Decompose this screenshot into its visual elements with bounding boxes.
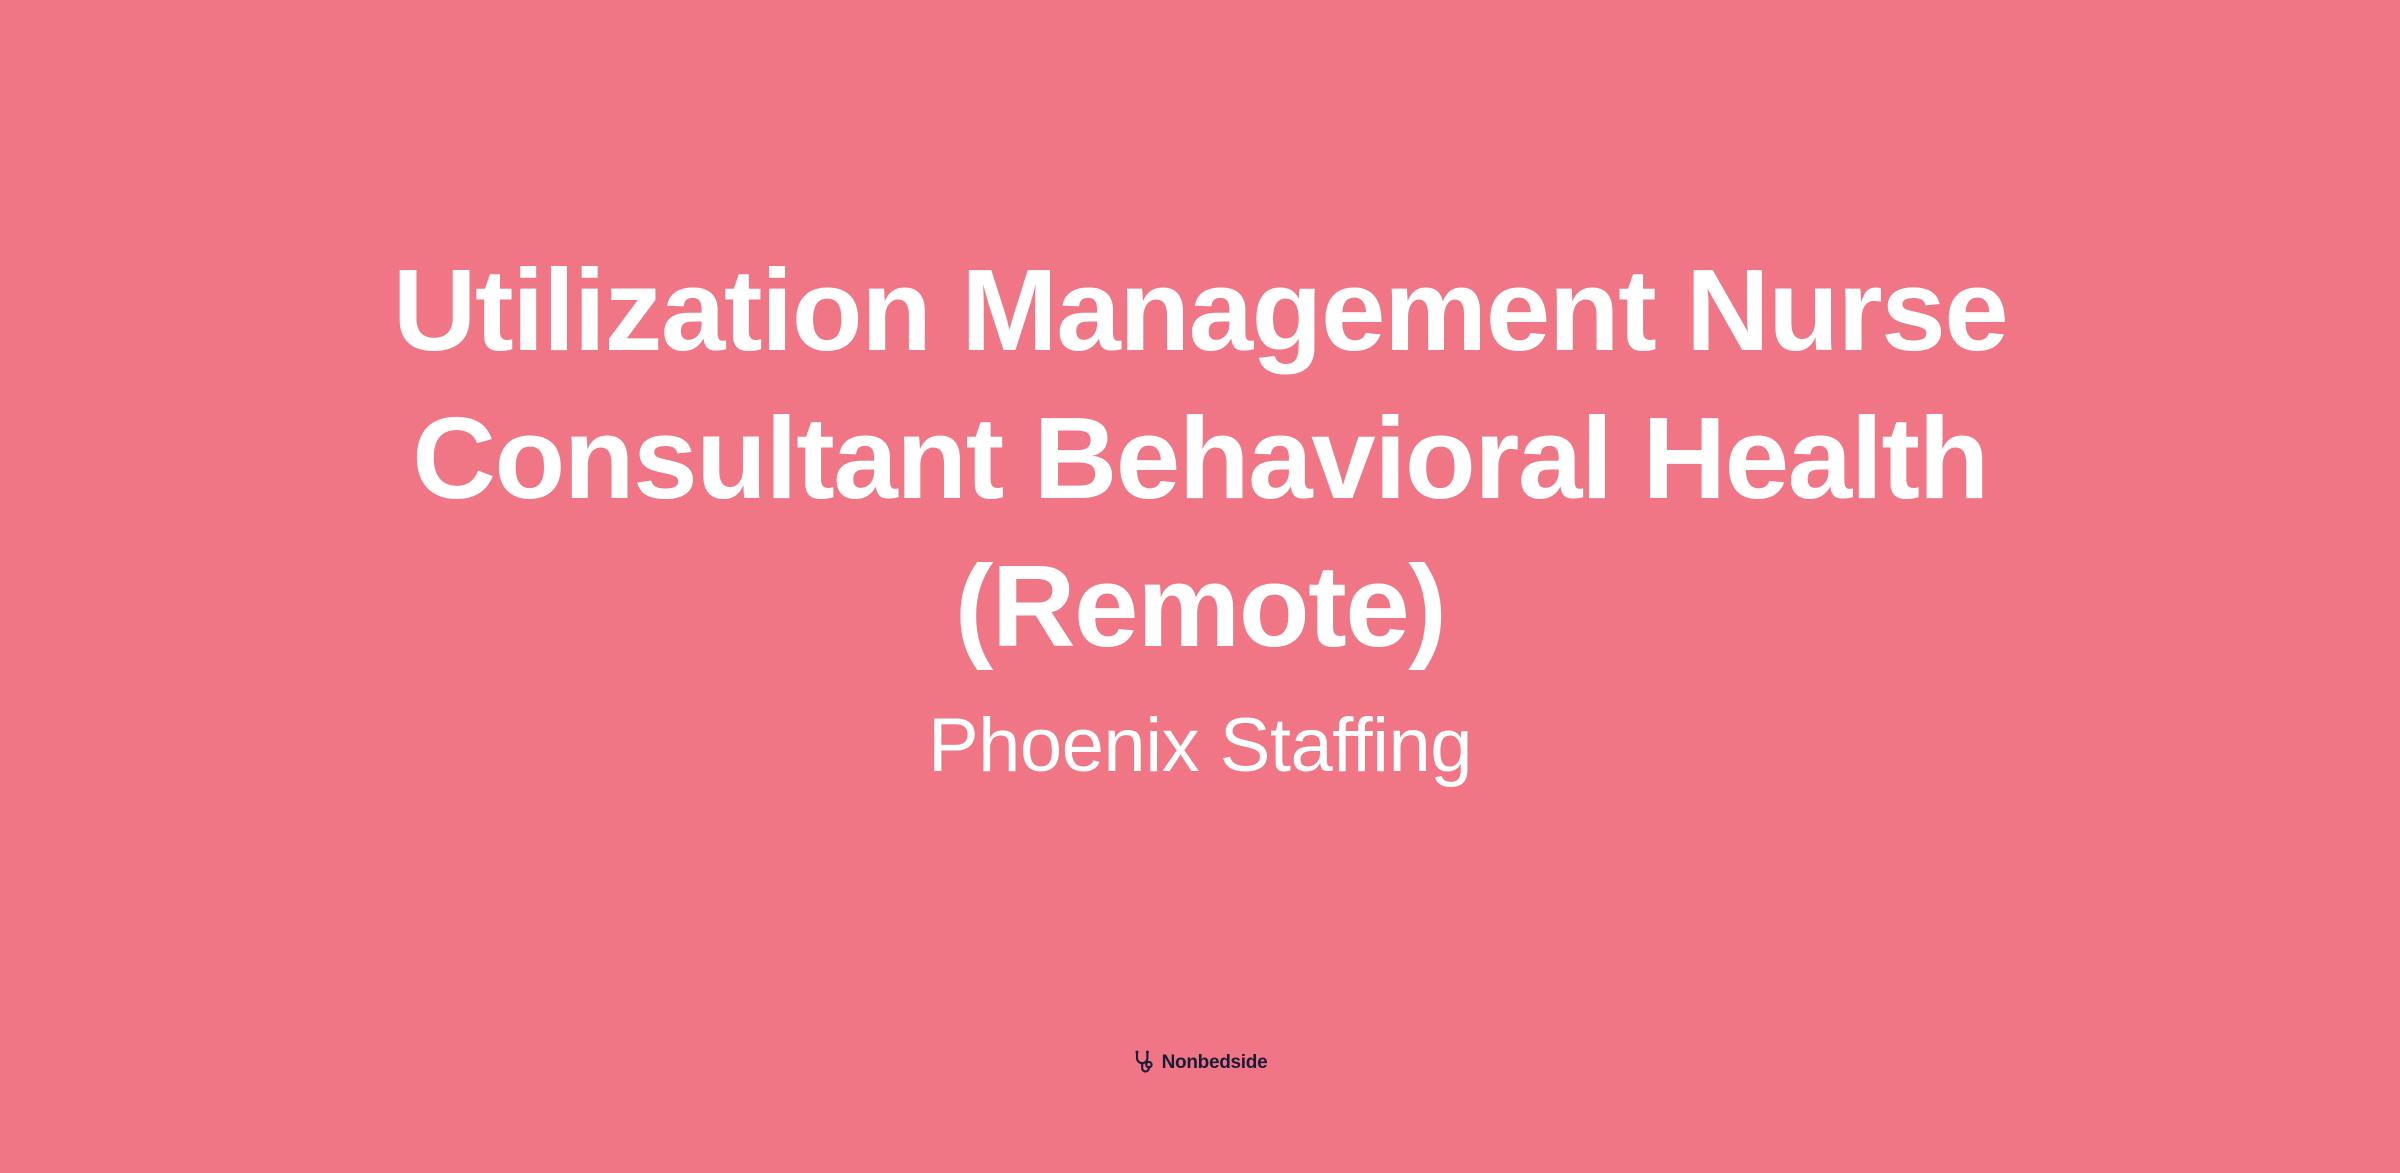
company-name: Phoenix Staffing xyxy=(350,698,2050,794)
page-title: Utilization Management Nurse Consultant … xyxy=(350,236,2050,680)
stethoscope-icon xyxy=(1133,1050,1155,1076)
brand-footer: Nonbedside xyxy=(0,1050,2400,1076)
job-posting-hero: Utilization Management Nurse Consultant … xyxy=(0,0,2400,1173)
brand-wordmark: Nonbedside xyxy=(1162,1052,1268,1074)
